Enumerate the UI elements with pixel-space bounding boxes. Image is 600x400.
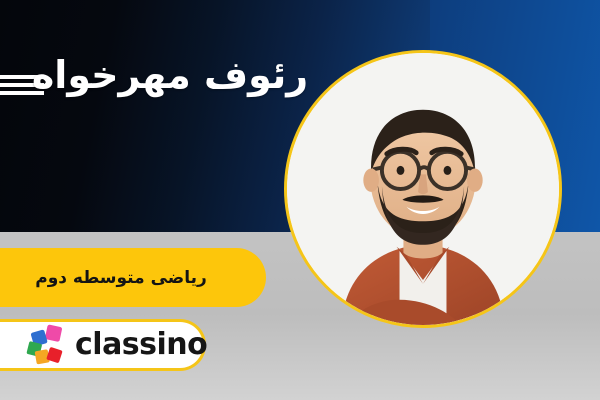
classino-logo-mark-icon: [26, 324, 68, 366]
brand-name: classino: [75, 330, 207, 360]
teacher-promo-card: رئوف مهرخواه: [0, 0, 600, 400]
teacher-portrait-image: [284, 50, 562, 328]
teacher-name: رئوف مهرخواه: [20, 52, 320, 100]
brand-logo-pill: classino: [0, 319, 206, 371]
subject-badge-label: ریاضی متوسطه دوم: [35, 268, 206, 288]
subject-badge: ریاضی متوسطه دوم: [0, 248, 266, 307]
